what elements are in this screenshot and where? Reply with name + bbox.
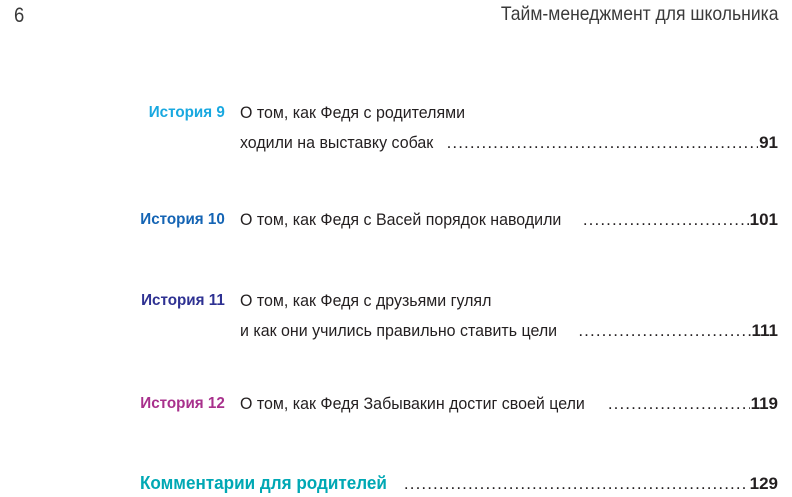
toc-entry-label: История 11: [25, 286, 240, 316]
toc-page-number: 101: [750, 205, 778, 235]
toc-page-number: 111: [752, 316, 779, 346]
toc-entry-line: ходили на выставку собак91: [240, 128, 778, 158]
dot-leader: [583, 205, 749, 235]
page-header: 6 Тайм-менеджмент для школьника: [14, 0, 778, 30]
toc-entry-label: История 9: [25, 98, 240, 128]
toc-entry[interactable]: История 10О том, как Федя с Васей порядо…: [14, 205, 778, 235]
toc-entry-label: История 12: [25, 389, 240, 419]
toc-entry-body: О том, как Федя Забывакин достиг своей ц…: [240, 389, 778, 419]
toc-entry-line: О том, как Федя Забывакин достиг своей ц…: [240, 389, 778, 419]
toc-entry[interactable]: История 9О том, как Федя с родителями91х…: [14, 98, 778, 158]
dot-leader: [608, 389, 750, 419]
folio-page-number: 6: [14, 5, 24, 26]
toc-entry-text: ходили на выставку собак: [240, 128, 433, 158]
toc-entry-text: О том, как Федя с Васей порядок наводили: [240, 205, 561, 235]
toc-entry-line: О том, как Федя с родителями91: [240, 98, 778, 128]
rainbow-gradient-rule: [14, 30, 778, 37]
toc-entry[interactable]: История 12О том, как Федя Забывакин дост…: [14, 389, 778, 419]
toc-entry[interactable]: История 11О том, как Федя с друзьями гул…: [14, 286, 778, 346]
toc-entry-line: О том, как Федя с друзьями гулял111: [240, 286, 778, 316]
toc-page-number: 129: [750, 474, 778, 494]
toc-entry-text: О том, как Федя с родителями: [240, 98, 465, 128]
toc-section-title: Комментарии для родителей: [140, 469, 387, 497]
toc-entry-text: О том, как Федя Забывакин достиг своей ц…: [240, 389, 585, 419]
book-page: 6 Тайм-менеджмент для школьника История …: [0, 0, 792, 496]
toc-entry-line: и как они учились правильно ставить цели…: [240, 316, 778, 346]
dot-leader: [578, 316, 750, 346]
toc-page-number: 119: [751, 389, 778, 419]
dot-leader: [447, 128, 759, 158]
toc-entry-text: О том, как Федя с друзьями гулял: [240, 286, 491, 316]
toc-entry-text: и как они учились правильно ставить цели: [240, 316, 557, 346]
dot-leader: [404, 474, 746, 494]
toc-entry-body: О том, как Федя с родителями91ходили на …: [240, 98, 778, 158]
running-title: Тайм-менеджмент для школьника: [500, 5, 778, 25]
toc-entry-line: О том, как Федя с Васей порядок наводили…: [240, 205, 778, 235]
toc-entry-label: История 10: [25, 205, 240, 235]
toc-section-entry[interactable]: Комментарии для родителей129: [14, 469, 778, 497]
toc-page-number: 91: [759, 128, 778, 158]
toc-entry-body: О том, как Федя с друзьями гулял111и как…: [240, 286, 778, 346]
toc-entry-body: О том, как Федя с Васей порядок наводили…: [240, 205, 778, 235]
